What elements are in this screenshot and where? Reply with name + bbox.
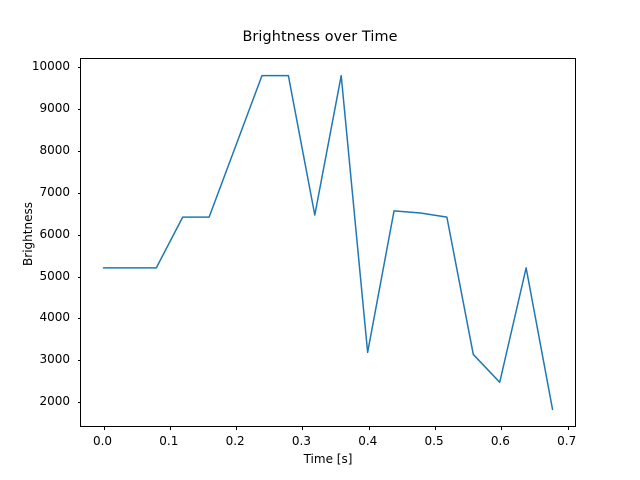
y-tick-label: 8000 <box>4 143 70 157</box>
x-tick-label: 0.5 <box>425 434 444 448</box>
y-tick-label: 5000 <box>4 269 70 283</box>
x-tick-mark <box>369 426 370 430</box>
x-tick-label: 0.3 <box>292 434 311 448</box>
y-tick-label: 9000 <box>4 101 70 115</box>
x-tick-mark <box>236 426 237 430</box>
y-tick-label: 10000 <box>4 59 70 73</box>
x-tick-label: 0.1 <box>159 434 178 448</box>
y-tick-mark <box>78 109 82 110</box>
x-tick-mark <box>435 426 436 430</box>
x-tick-label: 0.4 <box>358 434 377 448</box>
y-tick-mark <box>78 151 82 152</box>
x-tick-label: 0.6 <box>491 434 510 448</box>
x-tick-mark <box>104 426 105 430</box>
y-tick-mark <box>78 67 82 68</box>
x-tick-label: 0.2 <box>226 434 245 448</box>
x-axis-label: Time [s] <box>80 452 576 466</box>
x-tick-label: 0.0 <box>93 434 112 448</box>
y-tick-mark <box>78 402 82 403</box>
y-tick-label: 3000 <box>4 352 70 366</box>
y-tick-mark <box>78 277 82 278</box>
y-tick-label: 4000 <box>4 310 70 324</box>
x-tick-label: 0.7 <box>557 434 576 448</box>
y-tick-label: 6000 <box>4 227 70 241</box>
x-tick-mark <box>170 426 171 430</box>
x-tick-mark <box>501 426 502 430</box>
y-tick-mark <box>78 235 82 236</box>
y-tick-mark <box>78 360 82 361</box>
chart-title: Brightness over Time <box>0 29 640 45</box>
plot-axes <box>80 58 576 427</box>
x-tick-mark <box>302 426 303 430</box>
line-series-svg <box>81 59 575 426</box>
brightness-line <box>103 76 552 410</box>
y-tick-mark <box>78 318 82 319</box>
x-tick-mark <box>568 426 569 430</box>
y-tick-label: 7000 <box>4 185 70 199</box>
y-tick-mark <box>78 193 82 194</box>
matplotlib-figure: Brightness over Time Brightness Time [s]… <box>0 0 640 480</box>
y-tick-label: 2000 <box>4 394 70 408</box>
